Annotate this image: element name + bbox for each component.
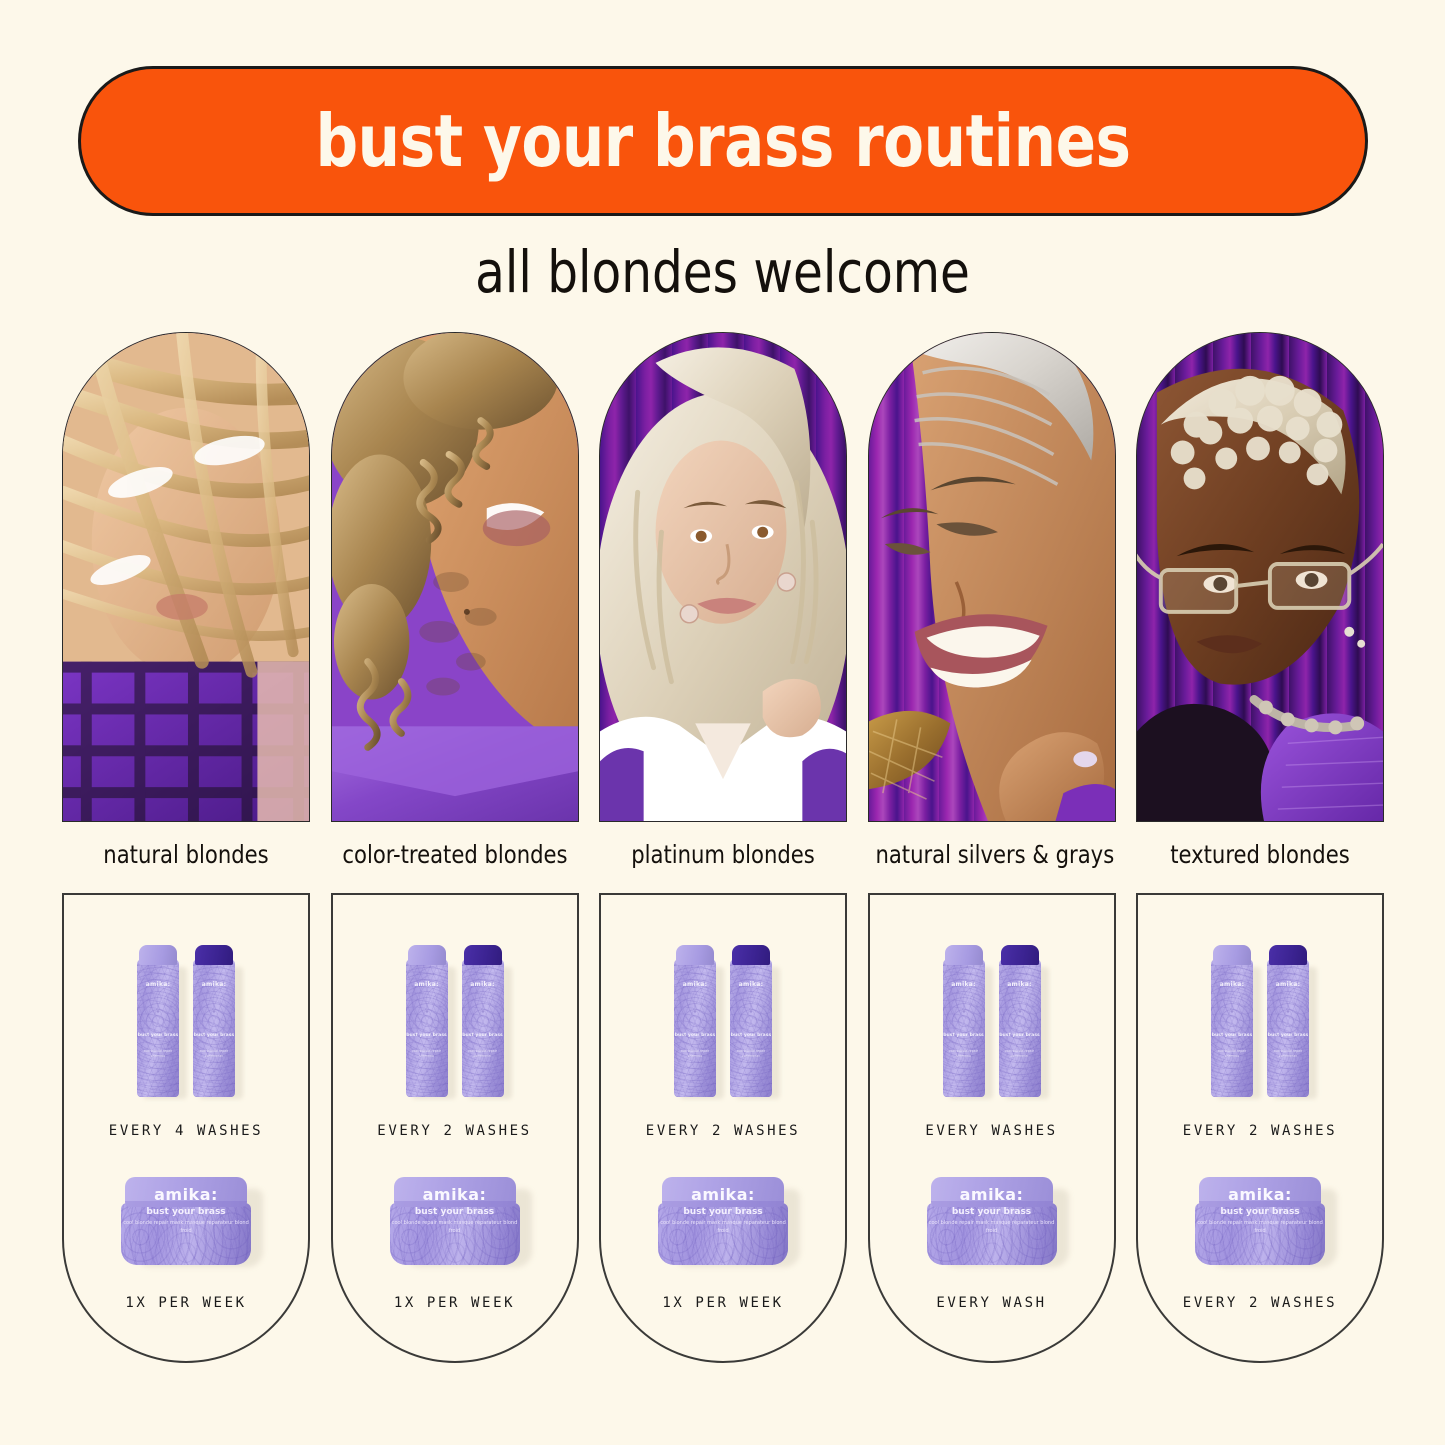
bottle-product-subtitle: cool blonde repair conditioner: [999, 1049, 1041, 1059]
bottle-body: [999, 959, 1041, 1097]
bottle-product-subtitle: cool blonde repair conditioner: [193, 1049, 235, 1059]
bottle-pair: amika: bust your brass cool blonde repai…: [64, 927, 308, 1097]
photo-platinum-blondes: [599, 332, 847, 822]
mask-jar-wrapper: amika: bust your brass cool blonde repai…: [601, 1163, 845, 1283]
routine-card-natural-silvers-grays: amika: bust your brass cool blonde repai…: [868, 893, 1116, 1363]
header-banner-wrapper: bust your brass routines: [78, 66, 1368, 216]
bottle-brand: amika:: [943, 981, 985, 988]
bottle-product-subtitle: cool blonde repair conditioner: [730, 1049, 772, 1059]
bottle-product-subtitle: cool blonde repair conditioner: [462, 1049, 504, 1059]
routine-card-platinum-blondes: amika: bust your brass cool blonde repai…: [599, 893, 847, 1363]
mask-jar: amika: bust your brass cool blonde repai…: [1195, 1177, 1325, 1269]
bottle-product-name: bust your brass: [406, 1033, 448, 1039]
bottle-brand: amika:: [1211, 981, 1253, 988]
bottle-product-name: bust your brass: [462, 1033, 504, 1039]
bottle-body: [674, 959, 716, 1097]
bottle-pair: amika: bust your brass cool blonde repai…: [601, 927, 845, 1097]
bottle-cap: [408, 945, 446, 965]
photo-cell-natural-silvers-grays: [868, 332, 1116, 822]
jar-product-name: bust your brass: [390, 1207, 520, 1217]
shampoo-bottle: amika: bust your brass cool blonde repai…: [1211, 945, 1253, 1097]
bottle-product-name: bust your brass: [137, 1033, 179, 1039]
jar-brand: amika:: [121, 1185, 251, 1204]
bottle-body: [137, 959, 179, 1097]
bottle-pair: amika: bust your brass cool blonde repai…: [870, 927, 1114, 1097]
bottle-body: [1211, 959, 1253, 1097]
category-label-textured-blondes: textured blondes: [1143, 840, 1376, 878]
mask-jar: amika: bust your brass cool blonde repai…: [121, 1177, 251, 1269]
bottle-cap: [732, 945, 770, 965]
jar-brand: amika:: [1195, 1185, 1325, 1204]
jar-product-name: bust your brass: [658, 1207, 788, 1217]
bottle-product-name: bust your brass: [193, 1033, 235, 1039]
bottle-body: [943, 959, 985, 1097]
jar-brand: amika:: [390, 1185, 520, 1204]
jar-brand: amika:: [927, 1185, 1057, 1204]
jar-brand: amika:: [658, 1185, 788, 1204]
jar-product-subtitle: cool blonde repair mask masque réparateu…: [121, 1219, 251, 1235]
routine-card-color-treated-blondes: amika: bust your brass cool blonde repai…: [331, 893, 579, 1363]
header-banner: bust your brass routines: [78, 66, 1368, 216]
shampoo-frequency: EVERY 2 WASHES: [1138, 1123, 1382, 1139]
photo-cell-natural-blondes: [62, 332, 310, 822]
mask-frequency: 1X PER WEEK: [333, 1295, 577, 1311]
bottle-pair: amika: bust your brass cool blonde repai…: [333, 927, 577, 1097]
bottle-product-subtitle: cool blonde repair shampoo: [406, 1049, 448, 1059]
mask-jar-wrapper: amika: bust your brass cool blonde repai…: [1138, 1163, 1382, 1283]
photo-row: [62, 332, 1384, 822]
banner-title: bust your brass routines: [315, 99, 1130, 183]
bottle-product-subtitle: cool blonde repair shampoo: [674, 1049, 716, 1059]
photo-cell-textured-blondes: [1136, 332, 1384, 822]
mask-jar: amika: bust your brass cool blonde repai…: [658, 1177, 788, 1269]
bottle-cap: [464, 945, 502, 965]
bottle-body: [462, 959, 504, 1097]
photo-natural-silvers-grays: [868, 332, 1116, 822]
bottle-product-subtitle: cool blonde repair shampoo: [137, 1049, 179, 1059]
mask-jar: amika: bust your brass cool blonde repai…: [390, 1177, 520, 1269]
shampoo-bottle: amika: bust your brass cool blonde repai…: [674, 945, 716, 1097]
category-label-color-treated-blondes: color-treated blondes: [338, 840, 571, 878]
shampoo-bottle: amika: bust your brass cool blonde repai…: [943, 945, 985, 1097]
shampoo-frequency: EVERY 2 WASHES: [333, 1123, 577, 1139]
mask-jar-wrapper: amika: bust your brass cool blonde repai…: [64, 1163, 308, 1283]
jar-product-name: bust your brass: [121, 1207, 251, 1217]
category-label-natural-silvers-grays: natural silvers & grays: [875, 840, 1108, 878]
bottle-brand: amika:: [674, 981, 716, 988]
mask-frequency: 1X PER WEEK: [601, 1295, 845, 1311]
routine-card-row: amika: bust your brass cool blonde repai…: [62, 893, 1384, 1363]
routine-card-textured-blondes: amika: bust your brass cool blonde repai…: [1136, 893, 1384, 1363]
jar-product-subtitle: cool blonde repair mask masque réparateu…: [1195, 1219, 1325, 1235]
routine-card-natural-blondes: amika: bust your brass cool blonde repai…: [62, 893, 310, 1363]
photo-natural-blondes: [62, 332, 310, 822]
bottle-cap: [1001, 945, 1039, 965]
category-label-row: natural blondes color-treated blondes pl…: [62, 840, 1384, 878]
bottle-cap: [1269, 945, 1307, 965]
jar-product-name: bust your brass: [1195, 1207, 1325, 1217]
mask-jar-wrapper: amika: bust your brass cool blonde repai…: [333, 1163, 577, 1283]
conditioner-bottle: amika: bust your brass cool blonde repai…: [999, 945, 1041, 1097]
mask-frequency: EVERY WASH: [870, 1295, 1114, 1311]
bottle-product-subtitle: cool blonde repair shampoo: [1211, 1049, 1253, 1059]
mask-jar: amika: bust your brass cool blonde repai…: [927, 1177, 1057, 1269]
bottle-brand: amika:: [999, 981, 1041, 988]
bottle-product-name: bust your brass: [1211, 1033, 1253, 1039]
conditioner-bottle: amika: bust your brass cool blonde repai…: [462, 945, 504, 1097]
bottle-brand: amika:: [1267, 981, 1309, 988]
mask-frequency: EVERY 2 WASHES: [1138, 1295, 1382, 1311]
bottle-product-name: bust your brass: [1267, 1033, 1309, 1039]
jar-product-subtitle: cool blonde repair mask masque réparateu…: [390, 1219, 520, 1235]
bottle-product-name: bust your brass: [730, 1033, 772, 1039]
bottle-cap: [676, 945, 714, 965]
bottle-brand: amika:: [406, 981, 448, 988]
jar-product-subtitle: cool blonde repair mask masque réparateu…: [927, 1219, 1057, 1235]
category-label-natural-blondes: natural blondes: [69, 840, 302, 878]
shampoo-frequency: EVERY WASHES: [870, 1123, 1114, 1139]
photo-textured-blondes: [1136, 332, 1384, 822]
bottle-body: [193, 959, 235, 1097]
bottle-brand: amika:: [730, 981, 772, 988]
bottle-cap: [1213, 945, 1251, 965]
photo-cell-platinum-blondes: [599, 332, 847, 822]
jar-product-subtitle: cool blonde repair mask masque réparateu…: [658, 1219, 788, 1235]
shampoo-bottle: amika: bust your brass cool blonde repai…: [137, 945, 179, 1097]
mask-jar-wrapper: amika: bust your brass cool blonde repai…: [870, 1163, 1114, 1283]
bottle-product-name: bust your brass: [999, 1033, 1041, 1039]
bottle-body: [1267, 959, 1309, 1097]
bottle-product-name: bust your brass: [674, 1033, 716, 1039]
category-label-platinum-blondes: platinum blondes: [606, 840, 839, 878]
bottle-product-name: bust your brass: [943, 1033, 985, 1039]
bottle-cap: [139, 945, 177, 965]
page-subtitle: all blondes welcome: [51, 238, 1395, 306]
mask-frequency: 1X PER WEEK: [64, 1295, 308, 1311]
bottle-cap: [195, 945, 233, 965]
shampoo-frequency: EVERY 2 WASHES: [601, 1123, 845, 1139]
bottle-body: [730, 959, 772, 1097]
conditioner-bottle: amika: bust your brass cool blonde repai…: [730, 945, 772, 1097]
bottle-brand: amika:: [193, 981, 235, 988]
conditioner-bottle: amika: bust your brass cool blonde repai…: [1267, 945, 1309, 1097]
bottle-brand: amika:: [462, 981, 504, 988]
shampoo-frequency: EVERY 4 WASHES: [64, 1123, 308, 1139]
photo-cell-color-treated-blondes: [331, 332, 579, 822]
conditioner-bottle: amika: bust your brass cool blonde repai…: [193, 945, 235, 1097]
bottle-product-subtitle: cool blonde repair shampoo: [943, 1049, 985, 1059]
bottle-pair: amika: bust your brass cool blonde repai…: [1138, 927, 1382, 1097]
photo-color-treated-blondes: [331, 332, 579, 822]
bottle-brand: amika:: [137, 981, 179, 988]
bottle-body: [406, 959, 448, 1097]
bottle-cap: [945, 945, 983, 965]
bottle-product-subtitle: cool blonde repair conditioner: [1267, 1049, 1309, 1059]
jar-product-name: bust your brass: [927, 1207, 1057, 1217]
shampoo-bottle: amika: bust your brass cool blonde repai…: [406, 945, 448, 1097]
